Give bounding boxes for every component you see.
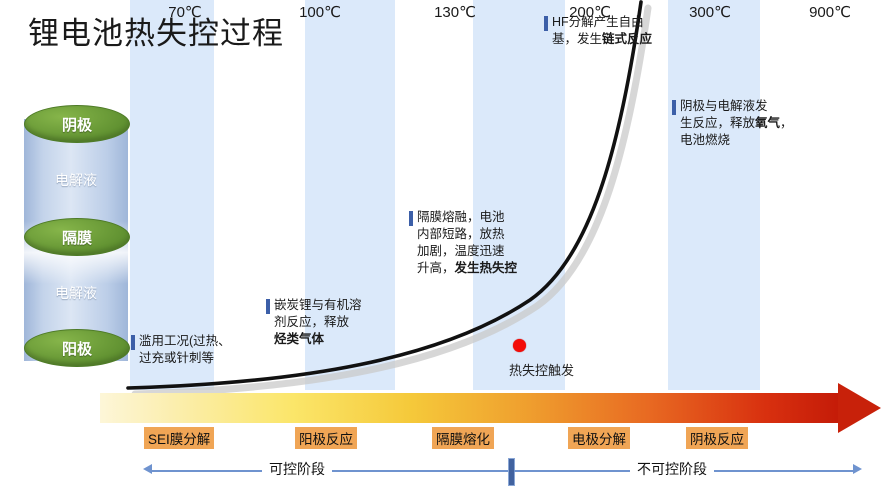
temperature-arrow-head-icon xyxy=(838,383,881,433)
callout-line: 剂反应，释放 xyxy=(266,314,384,331)
callout-accent-bar xyxy=(672,100,676,115)
reaction-label: 电极分解 xyxy=(568,427,630,449)
temperature-tick: 900℃ xyxy=(790,3,870,21)
callout-line: 隔膜熔融，电池 xyxy=(409,209,529,226)
callout-line: 加剧，温度迅速 xyxy=(409,243,529,260)
callout-line-bold: 烃类气体 xyxy=(266,331,384,348)
stage-arrow-right-icon xyxy=(853,464,862,474)
temperature-tick: 70℃ xyxy=(145,3,225,21)
callout-line-bold: 链式反应 xyxy=(602,32,652,46)
callout-line: 生反应，释放氧气，电池燃烧 xyxy=(672,115,794,149)
callout-line: 基，发生链式反应 xyxy=(544,31,662,48)
callout-line-part: 生反应，释放 xyxy=(680,116,755,130)
stage-arrow-left-icon xyxy=(143,464,152,474)
callout-line: 滥用工况(过热、 xyxy=(131,333,249,350)
callout-line: 阴极与电解液发 xyxy=(672,98,794,115)
reaction-label: 阴极反应 xyxy=(686,427,748,449)
callout-line: 过充或针刺等 xyxy=(131,350,249,367)
temperature-axis-arrow xyxy=(100,393,881,423)
callout-line-part: 基，发生 xyxy=(552,32,602,46)
callout-accent-bar xyxy=(409,211,413,226)
callout-line: 嵌炭锂与有机溶 xyxy=(266,297,384,314)
callout-lithiated-carbon: 嵌炭锂与有机溶 剂反应，释放 烃类气体 xyxy=(266,297,384,348)
callout-line: 内部短路，放热 xyxy=(409,226,529,243)
infographic-canvas: 锂电池热失控过程 阴极 电解液 隔膜 电解液 阳极 热失控触发 滥用工况(过热、… xyxy=(0,0,881,492)
callout-separator-melting: 隔膜熔融，电池 内部短路，放热 加剧，温度迅速 升高，发生热失控 xyxy=(409,209,529,277)
temperature-gradient-shaft xyxy=(100,393,840,423)
callout-accent-bar xyxy=(544,16,548,31)
thermal-runaway-trigger-dot xyxy=(513,339,526,352)
callout-abuse-condition: 滥用工况(过热、 过充或针刺等 xyxy=(131,333,249,367)
thermal-runaway-trigger-label: 热失控触发 xyxy=(509,360,574,379)
reaction-label: 隔膜熔化 xyxy=(432,427,494,449)
reaction-label: SEI膜分解 xyxy=(144,427,214,449)
callout-line-part: 升高， xyxy=(417,261,455,275)
temperature-tick: 130℃ xyxy=(415,3,495,21)
stage-label-uncontrollable: 不可控阶段 xyxy=(630,459,714,479)
temperature-tick: 100℃ xyxy=(280,3,360,21)
temperature-tick: 300℃ xyxy=(670,3,750,21)
reaction-label: 阳极反应 xyxy=(295,427,357,449)
callout-cathode-oxygen: 阴极与电解液发 生反应，释放氧气，电池燃烧 xyxy=(672,98,794,149)
callout-accent-bar xyxy=(131,335,135,350)
callout-line: 升高，发生热失控 xyxy=(409,260,529,277)
callout-line-bold: 氧气 xyxy=(755,116,780,130)
stage-label-controllable: 可控阶段 xyxy=(262,459,332,479)
stage-divider xyxy=(508,458,515,486)
temperature-tick: 200℃ xyxy=(550,3,630,21)
callout-line-bold: 发生热失控 xyxy=(455,261,518,275)
callout-accent-bar xyxy=(266,299,270,314)
